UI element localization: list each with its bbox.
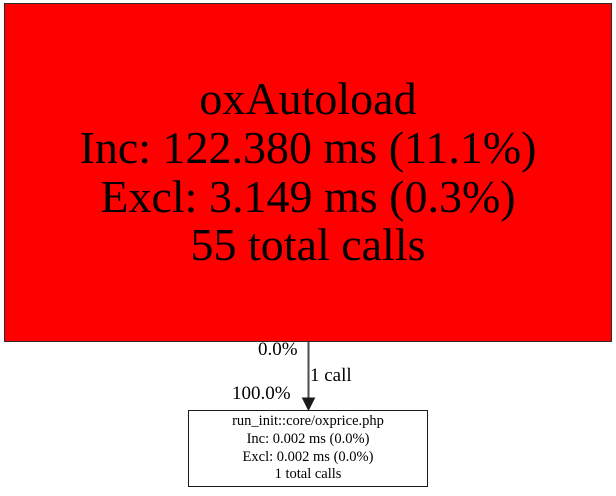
node-total-calls: 55 total calls [190, 222, 425, 269]
node-function-name: run_init::core/oxprice.php [232, 413, 384, 431]
graph-edge-connector[interactable] [0, 330, 616, 420]
graph-node-run-init-oxprice[interactable]: run_init::core/oxprice.php Inc: 0.002 ms… [188, 410, 428, 487]
graph-node-oxautoload[interactable]: oxAutoload Inc: 122.380 ms (11.1%) Excl:… [4, 3, 612, 342]
edge-head-percent-label: 100.0% [232, 384, 291, 403]
call-graph-canvas: oxAutoload Inc: 122.380 ms (11.1%) Excl:… [0, 0, 616, 496]
edge-tail-percent-label: 0.0% [258, 340, 298, 359]
edge-call-count-label: 1 call [310, 366, 352, 385]
node-exclusive-time: Excl: 0.002 ms (0.0%) [243, 449, 374, 467]
node-total-calls: 1 total calls [275, 466, 342, 484]
node-exclusive-time: Excl: 3.149 ms (0.3%) [100, 174, 515, 221]
node-function-name: oxAutoload [199, 76, 416, 123]
node-inclusive-time: Inc: 122.380 ms (11.1%) [80, 125, 537, 172]
node-inclusive-time: Inc: 0.002 ms (0.0%) [247, 431, 370, 449]
